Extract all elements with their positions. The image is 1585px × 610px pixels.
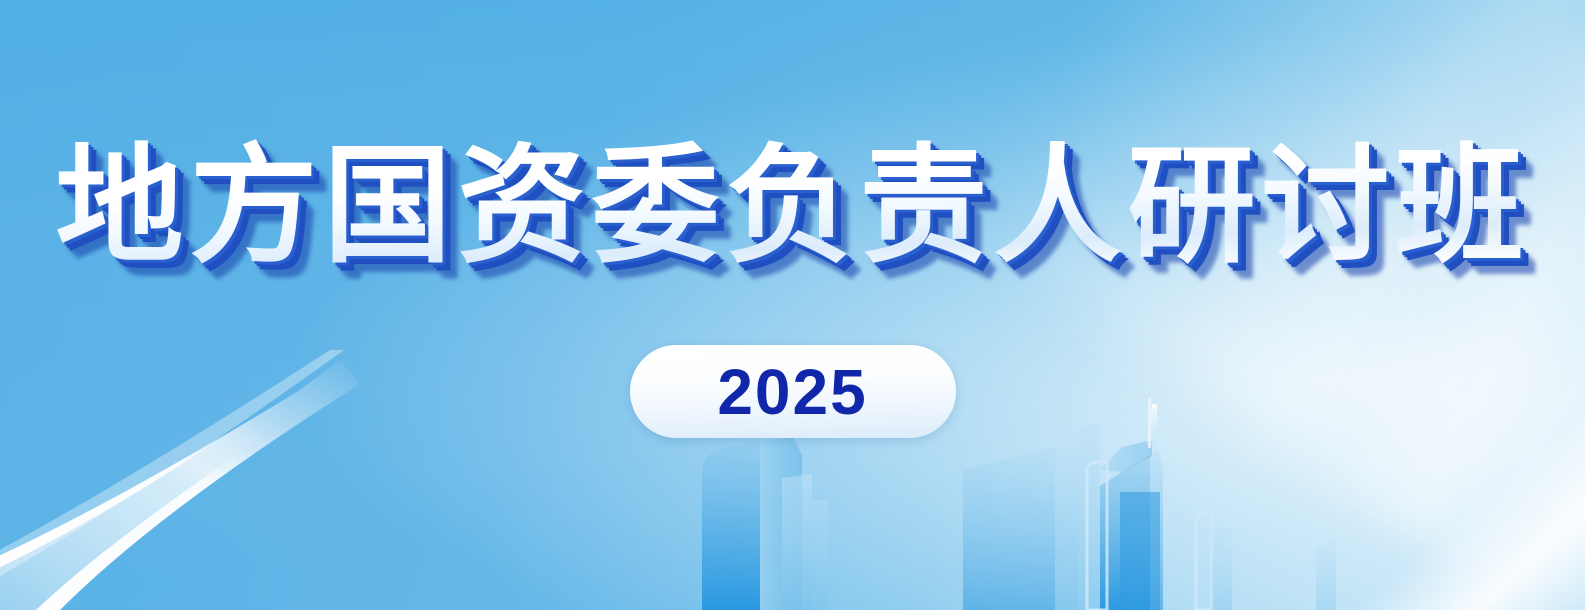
event-banner: 地方国资委负责人研讨班 2025 bbox=[0, 0, 1585, 610]
year-badge: 2025 bbox=[630, 345, 956, 438]
title-block: 地方国资委负责人研讨班 bbox=[0, 138, 1585, 276]
page-title: 地方国资委负责人研讨班 bbox=[55, 138, 1529, 276]
year-badge-label: 2025 bbox=[717, 360, 867, 424]
